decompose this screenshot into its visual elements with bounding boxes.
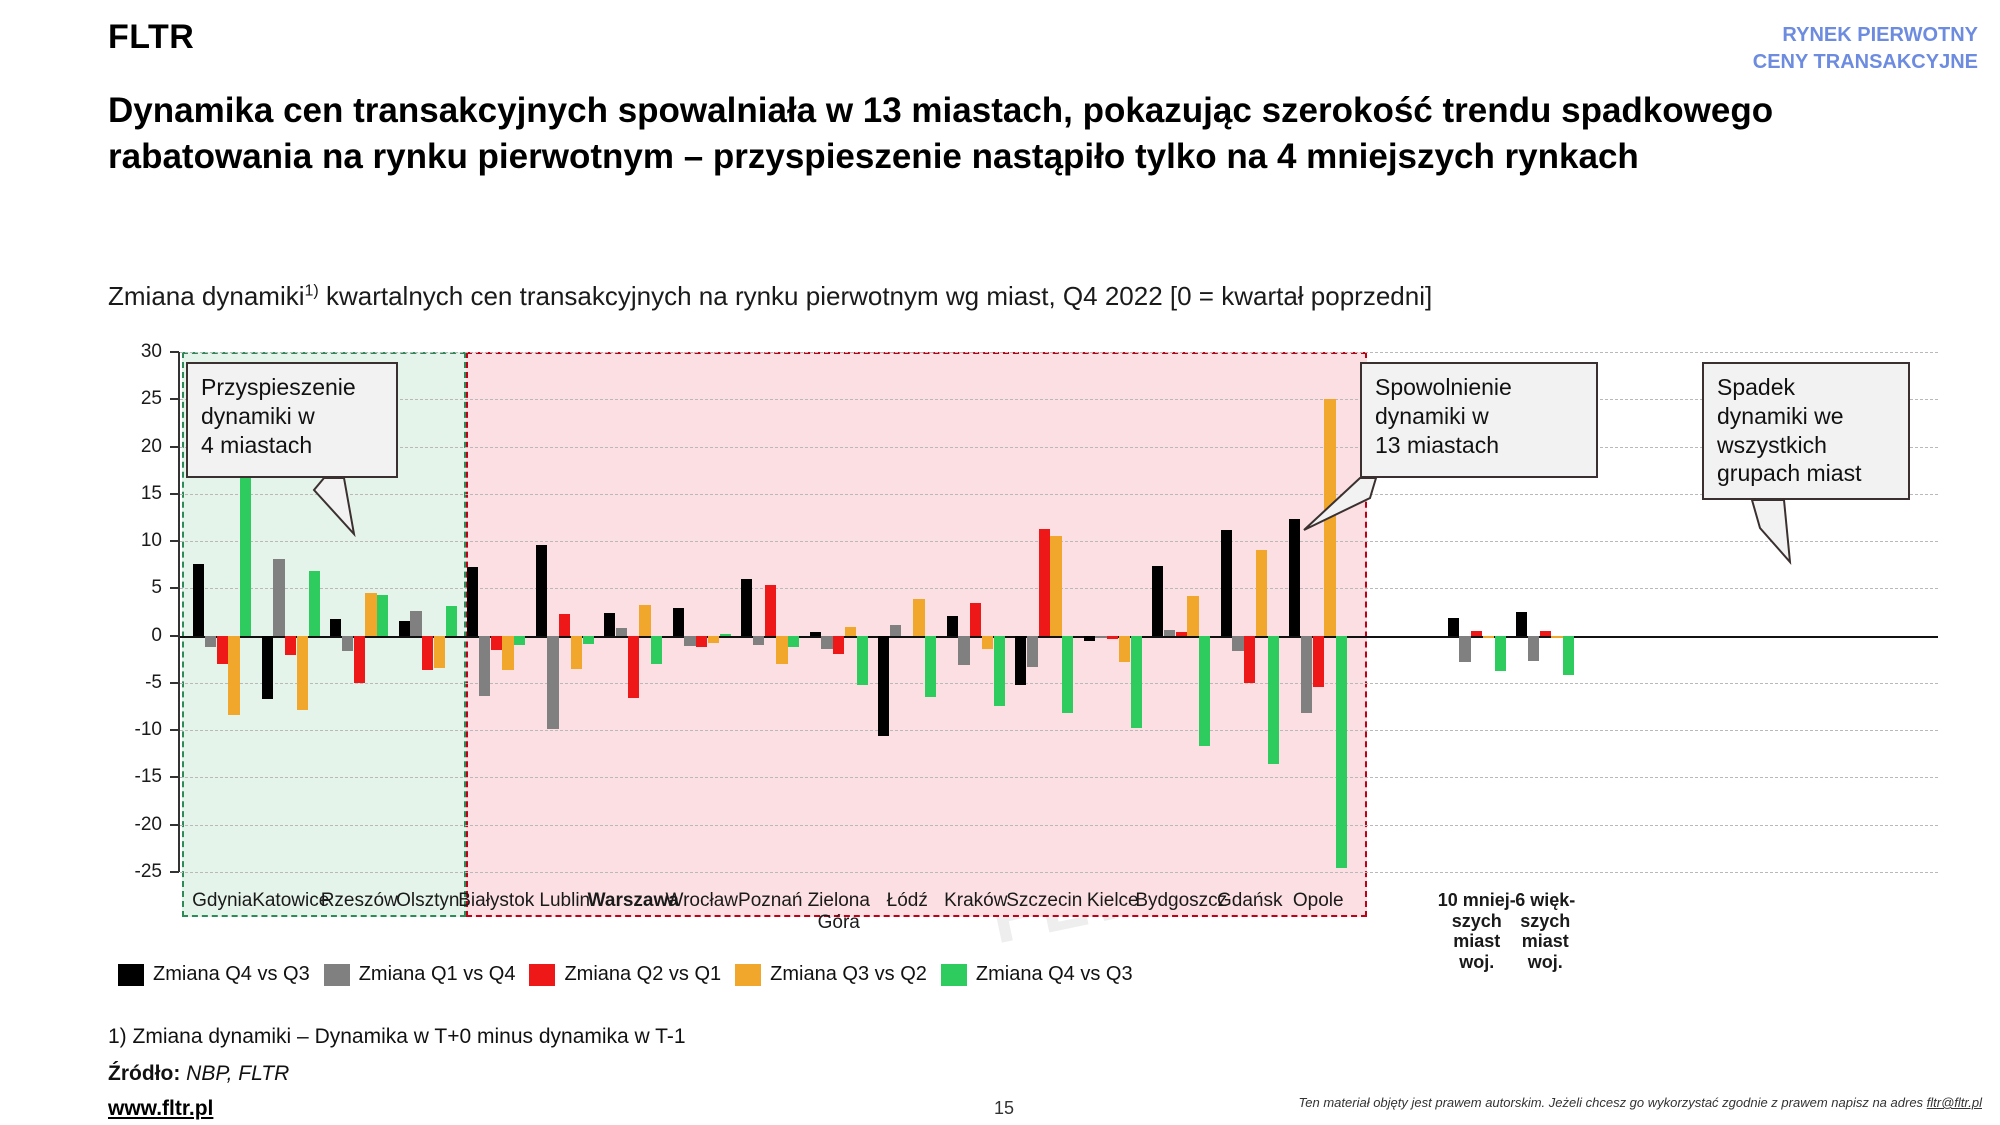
bar [673, 608, 684, 635]
y-tick-mark [170, 776, 179, 778]
bar [1471, 631, 1482, 636]
bar [1313, 636, 1324, 687]
bar [639, 605, 650, 635]
y-tick-label: 20 [141, 436, 162, 458]
bar [628, 636, 639, 698]
bar [810, 632, 821, 636]
chart-subtitle: Zmiana dynamiki1) kwartalnych cen transa… [108, 281, 1938, 312]
subtitle-text-after: kwartalnych cen transakcyjnych na rynku … [319, 281, 1432, 311]
bar [1459, 636, 1470, 662]
y-tick-mark [170, 493, 179, 495]
bar [1448, 618, 1459, 636]
bar [765, 585, 776, 636]
y-tick-mark [170, 587, 179, 589]
callout-all-groups: Spadek dynamiki we wszystkich grupach mi… [1702, 362, 1910, 500]
bar [1528, 636, 1539, 662]
bar [1221, 530, 1232, 636]
x-axis-labels: GdyniaKatowiceRzeszówOlsztynBiałystokLub… [180, 890, 1938, 950]
bar [193, 564, 204, 636]
bar [845, 627, 856, 636]
bar [925, 636, 936, 697]
legend-swatch [941, 964, 967, 986]
legend-label: Zmiana Q3 vs Q2 [770, 963, 927, 986]
bar [878, 636, 889, 736]
bar [651, 636, 662, 664]
page-title: Dynamika cen transakcyjnych spowalniała … [108, 88, 1908, 179]
bar [1131, 636, 1142, 729]
y-tick-mark [170, 635, 179, 637]
chart-bars [180, 352, 1938, 872]
bar [467, 567, 478, 636]
callout-accelerating: Przyspieszenie dynamiki w 4 miastach [186, 362, 398, 478]
bar [970, 603, 981, 636]
bar [1176, 632, 1187, 636]
y-tick-label: -25 [135, 861, 162, 883]
bar [354, 636, 365, 683]
bar [788, 636, 799, 647]
legend-label: Zmiana Q1 vs Q4 [359, 963, 516, 986]
gridline [180, 872, 1938, 873]
y-tick-mark [170, 729, 179, 731]
bar [616, 628, 627, 636]
x-tick-label: Opole [1243, 890, 1393, 912]
bar [377, 595, 388, 636]
legend-item[interactable]: Zmiana Q2 vs Q1 [529, 963, 721, 986]
bar [720, 634, 731, 636]
y-tick-label: 15 [141, 483, 162, 505]
legend-swatch [735, 964, 761, 986]
bar [330, 619, 341, 636]
legend-item[interactable]: Zmiana Q4 vs Q3 [941, 963, 1133, 986]
bar [994, 636, 1005, 706]
bar [1483, 636, 1494, 638]
bar [1256, 550, 1267, 636]
bar [890, 625, 901, 635]
copyright-email-link[interactable]: fltr@fltr.pl [1927, 1095, 1982, 1110]
bar [1244, 636, 1255, 683]
y-tick-mark [170, 398, 179, 400]
source-label: Źródło: [108, 1062, 180, 1085]
subtitle-footnote-marker: 1) [305, 282, 319, 299]
bar [821, 636, 832, 649]
bar [571, 636, 582, 669]
bar [205, 636, 216, 647]
chart-plot-area: FLTR.pl 302520151050-5-10-15-20-25 Gdyni… [108, 352, 1938, 942]
bar [913, 599, 924, 636]
bar [285, 636, 296, 655]
bar [422, 636, 433, 670]
bar [559, 614, 570, 636]
bar [1324, 399, 1335, 635]
legend-item[interactable]: Zmiana Q1 vs Q4 [324, 963, 516, 986]
copyright-notice: Ten materiał objęty jest prawem autorski… [1299, 1095, 1982, 1110]
bar [1015, 636, 1026, 685]
bar [1336, 636, 1347, 869]
legend-swatch [118, 964, 144, 986]
y-tick-label: 0 [151, 625, 162, 647]
bar [342, 636, 353, 651]
bar [857, 636, 868, 685]
bar [1039, 529, 1050, 636]
legend-label: Zmiana Q2 vs Q1 [564, 963, 721, 986]
kicker-heading: RYNEK PIERWOTNY CENY TRANSAKCYJNE [1753, 22, 1978, 75]
legend-label: Zmiana Q4 vs Q3 [976, 963, 1133, 986]
bar [514, 636, 525, 645]
bar [273, 559, 284, 636]
x-tick-label: 6 więk-szychmiastwoj. [1490, 890, 1600, 973]
subtitle-text-before: Zmiana dynamiki [108, 281, 305, 311]
y-tick-mark [170, 824, 179, 826]
y-tick-label: 25 [141, 388, 162, 410]
legend-item[interactable]: Zmiana Q4 vs Q3 [118, 963, 310, 986]
bar [1084, 636, 1095, 642]
bar [240, 469, 251, 635]
callout-slowing: Spowolnienie dynamiki w 13 miastach [1360, 362, 1598, 478]
bar [365, 593, 376, 636]
bar [1050, 536, 1061, 635]
bar [1164, 630, 1175, 636]
bar [1563, 636, 1574, 676]
y-tick-label: -10 [135, 719, 162, 741]
bar [753, 636, 764, 645]
bar [741, 579, 752, 636]
bar [502, 636, 513, 670]
bar [309, 571, 320, 635]
kicker-line-1: RYNEK PIERWOTNY [1753, 22, 1978, 49]
bar [1062, 636, 1073, 714]
bar [708, 636, 719, 644]
bar [1495, 636, 1506, 671]
bar [1516, 612, 1527, 636]
bar [547, 636, 558, 730]
y-tick-mark [170, 871, 179, 873]
bar [1095, 636, 1106, 639]
brand-logo: FLTR [108, 18, 194, 57]
bar [1301, 636, 1312, 714]
legend-label: Zmiana Q4 vs Q3 [153, 963, 310, 986]
bar [1187, 596, 1198, 636]
bar [684, 636, 695, 646]
bar [833, 636, 844, 654]
bar [1540, 631, 1551, 636]
bar [410, 611, 421, 636]
bar [1268, 636, 1279, 765]
copyright-text: Ten materiał objęty jest prawem autorski… [1299, 1095, 1927, 1110]
footnote: 1) Zmiana dynamiki – Dynamika w T+0 minu… [108, 1025, 686, 1049]
y-tick-mark [170, 446, 179, 448]
legend-swatch [529, 964, 555, 986]
chart-legend: Zmiana Q4 vs Q3Zmiana Q1 vs Q4Zmiana Q2 … [118, 963, 1133, 986]
kicker-line-2: CENY TRANSAKCYJNE [1753, 49, 1978, 76]
page-number: 15 [994, 1098, 1014, 1119]
bar [446, 606, 457, 635]
bar [1027, 636, 1038, 667]
y-tick-mark [170, 351, 179, 353]
bar [217, 636, 228, 664]
bar [583, 636, 594, 645]
bar [228, 636, 239, 715]
bar [1199, 636, 1210, 747]
bar [1551, 636, 1562, 638]
bar [1152, 566, 1163, 636]
bar [262, 636, 273, 699]
bar [982, 636, 993, 649]
y-tick-mark [170, 682, 179, 684]
source-value: NBP, FLTR [186, 1062, 289, 1085]
bar [958, 636, 969, 665]
bar [947, 616, 958, 636]
bar [399, 621, 410, 636]
y-tick-mark [170, 540, 179, 542]
source-line: Źródło: NBP, FLTR [108, 1062, 289, 1086]
y-tick-label: -15 [135, 766, 162, 788]
legend-item[interactable]: Zmiana Q3 vs Q2 [735, 963, 927, 986]
bar [479, 636, 490, 697]
y-tick-label: 30 [141, 341, 162, 363]
bar [536, 545, 547, 636]
bar [1119, 636, 1130, 662]
bar [1289, 519, 1300, 635]
bar [776, 636, 787, 664]
bar [696, 636, 707, 647]
y-tick-label: -20 [135, 814, 162, 836]
bar [491, 636, 502, 650]
bar [434, 636, 445, 668]
bar [297, 636, 308, 711]
bar [1232, 636, 1243, 651]
website-link[interactable]: www.fltr.pl [108, 1097, 213, 1121]
bar [1107, 636, 1118, 640]
y-tick-label: -5 [145, 672, 162, 694]
bar [604, 613, 615, 636]
y-tick-label: 10 [141, 530, 162, 552]
y-tick-label: 5 [151, 577, 162, 599]
legend-swatch [324, 964, 350, 986]
y-axis-labels: 302520151050-5-10-15-20-25 [108, 352, 170, 872]
